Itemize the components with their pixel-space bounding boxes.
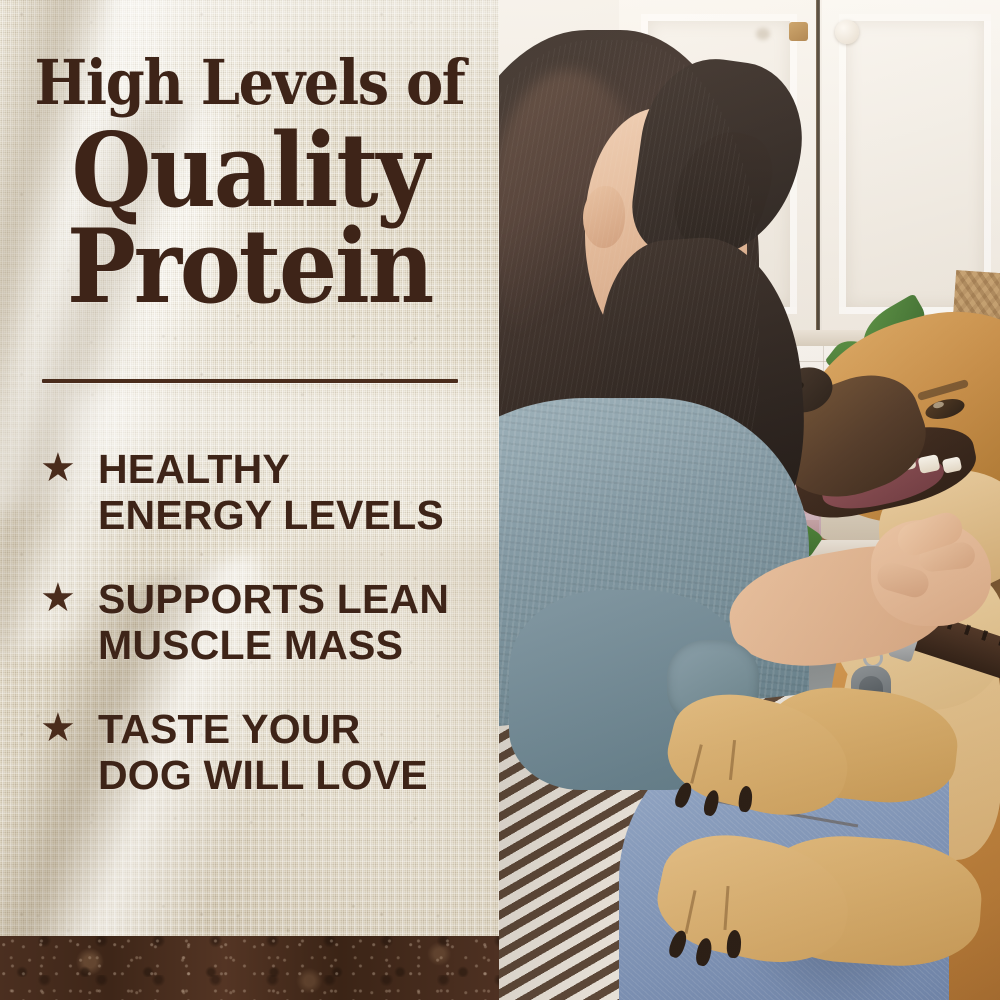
left-text-panel: High Levels of Quality Protein ★ HEALTHY…	[0, 0, 499, 1000]
cabinet-knob-wood-icon	[789, 22, 808, 41]
benefit-line-2: MUSCLE MASS	[98, 622, 449, 668]
headline-line-3: Protein	[25, 216, 474, 318]
benefit-text: SUPPORTS LEAN MUSCLE MASS	[98, 576, 449, 668]
benefit-line-1: HEALTHY	[98, 446, 444, 492]
benefit-line-2: DOG WILL LOVE	[98, 752, 428, 798]
cabinet-knob-shadow	[756, 28, 770, 40]
benefit-line-1: SUPPORTS LEAN	[98, 576, 449, 622]
benefit-line-1: TASTE YOUR	[98, 706, 428, 752]
benefit-line-2: ENERGY LEVELS	[98, 492, 444, 538]
list-item: ★ SUPPORTS LEAN MUSCLE MASS	[40, 576, 490, 668]
list-item: ★ HEALTHY ENERGY LEVELS	[40, 446, 490, 538]
headline-divider-rule	[42, 379, 458, 383]
benefit-text: HEALTHY ENERGY LEVELS	[98, 446, 444, 538]
soil-strip	[0, 936, 499, 1000]
benefit-text: TASTE YOUR DOG WILL LOVE	[98, 706, 428, 798]
star-icon: ★	[40, 578, 80, 618]
cabinet-knob-round-icon	[835, 20, 859, 44]
left-panel-content: High Levels of Quality Protein ★ HEALTHY…	[0, 0, 499, 1000]
star-icon: ★	[40, 708, 80, 748]
headline-block: High Levels of Quality Protein	[0, 52, 499, 318]
soil-grain-texture	[0, 936, 499, 1000]
cabinet-right-panel	[839, 14, 991, 314]
benefits-list: ★ HEALTHY ENERGY LEVELS ★ SUPPORTS LEAN …	[40, 446, 490, 798]
list-item: ★ TASTE YOUR DOG WILL LOVE	[40, 706, 490, 798]
cabinet-seam	[817, 0, 820, 346]
headline-line-1: High Levels of	[25, 52, 474, 114]
banner-canvas: High Levels of Quality Protein ★ HEALTHY…	[0, 0, 1000, 1000]
right-photo-panel	[499, 0, 1000, 1000]
star-icon: ★	[40, 448, 80, 488]
